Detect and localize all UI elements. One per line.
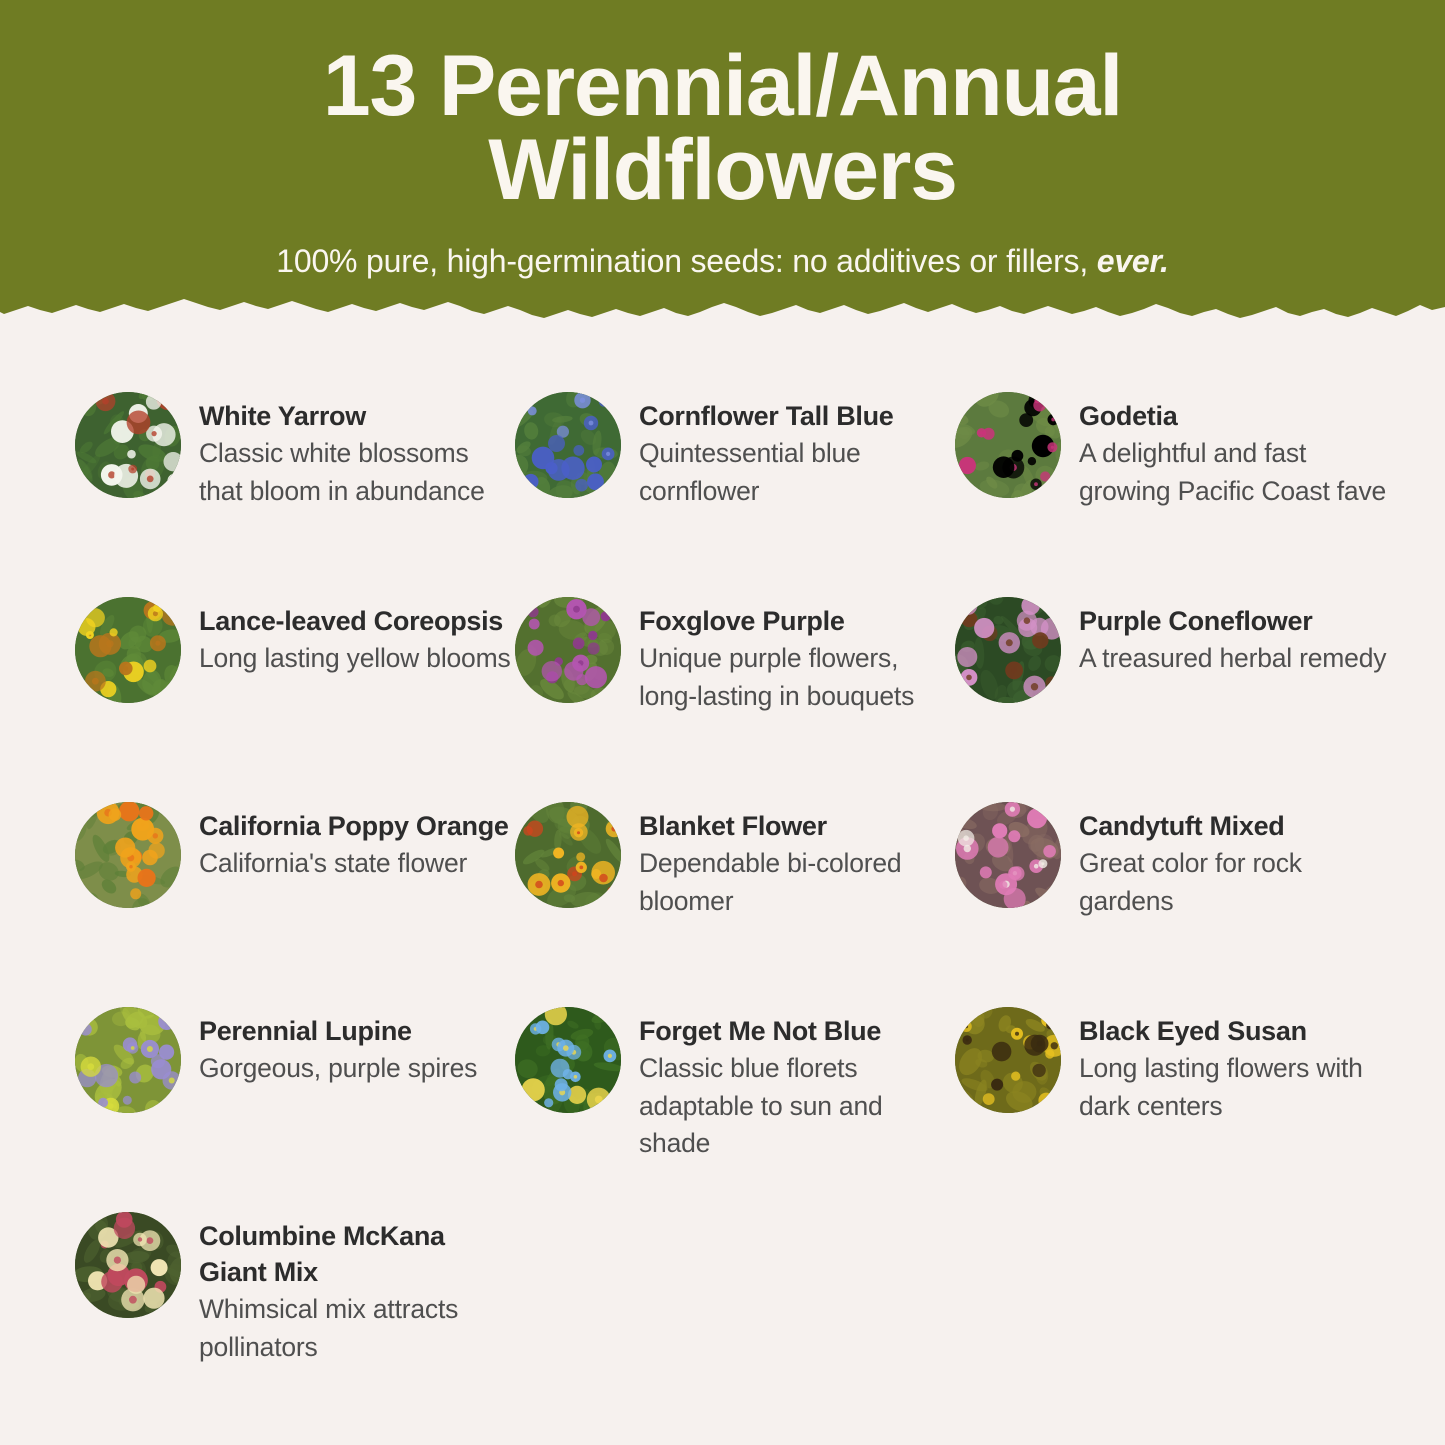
page-subtitle: 100% pure, high-germination seeds: no ad… [0, 243, 1445, 280]
flower-name: Foxglove Purple [639, 603, 955, 639]
candytuft-mixed-photo [955, 802, 1061, 908]
flower-text-block: White YarrowClassic white blossoms that … [199, 382, 515, 510]
lance-leaved-coreopsis-photo [75, 597, 181, 703]
flower-list-item: Candytuft MixedGreat color for rock gard… [955, 792, 1395, 997]
perennial-lupine-photo [75, 1007, 181, 1113]
flower-list-item: California Poppy OrangeCalifornia's stat… [75, 792, 515, 997]
flower-name: Blanket Flower [639, 808, 955, 844]
flower-text-block: Cornflower Tall BlueQuintessential blue … [639, 382, 955, 510]
blanket-flower-photo [515, 802, 621, 908]
flower-description: Whimsical mix attracts pollinators [199, 1291, 515, 1366]
flower-name: Lance-leaved Coreopsis [199, 603, 511, 639]
flower-list-item: White YarrowClassic white blossoms that … [75, 382, 515, 587]
flower-text-block: Purple ConeflowerA treasured herbal reme… [1079, 587, 1386, 678]
cornflower-tall-blue-photo [515, 392, 621, 498]
purple-coneflower-photo [955, 597, 1061, 703]
flower-list-item: Black Eyed SusanLong lasting flowers wit… [955, 997, 1395, 1202]
flower-text-block: Blanket FlowerDependable bi-colored bloo… [639, 792, 955, 920]
subtitle-main-text: 100% pure, high-germination seeds: no ad… [276, 243, 1096, 279]
flower-description: Unique purple flowers, long-lasting in b… [639, 640, 955, 715]
flower-list-item: GodetiaA delightful and fast growing Pac… [955, 382, 1395, 587]
flower-description: Long lasting flowers with dark centers [1079, 1050, 1395, 1125]
flower-name: White Yarrow [199, 398, 515, 434]
flower-text-block: Lance-leaved CoreopsisLong lasting yello… [199, 587, 511, 678]
flower-list-item: Purple ConeflowerA treasured herbal reme… [955, 587, 1395, 792]
subtitle-emphasis-text: ever. [1097, 243, 1169, 279]
california-poppy-orange-photo [75, 802, 181, 908]
flower-list-item: Forget Me Not BlueClassic blue florets a… [515, 997, 955, 1202]
flower-description: Classic white blossoms that bloom in abu… [199, 435, 515, 510]
flower-description: Classic blue florets adaptable to sun an… [639, 1050, 955, 1163]
white-yarrow-photo [75, 392, 181, 498]
flower-description: Dependable bi-colored bloomer [639, 845, 955, 920]
page-title: 13 Perennial/Annual Wildflowers [0, 44, 1445, 213]
flower-text-block: California Poppy OrangeCalifornia's stat… [199, 792, 509, 883]
header-banner: 13 Perennial/Annual Wildflowers 100% pur… [0, 0, 1445, 330]
flower-name: Perennial Lupine [199, 1013, 477, 1049]
flower-name: Black Eyed Susan [1079, 1013, 1395, 1049]
flower-text-block: Candytuft MixedGreat color for rock gard… [1079, 792, 1395, 920]
flower-description: A treasured herbal remedy [1079, 640, 1386, 678]
flower-description: Quintessential blue cornflower [639, 435, 955, 510]
flower-description: Long lasting yellow blooms [199, 640, 511, 678]
flower-name: Cornflower Tall Blue [639, 398, 955, 434]
flower-text-block: Columbine McKana Giant MixWhimsical mix … [199, 1202, 515, 1367]
foxglove-purple-photo [515, 597, 621, 703]
flower-text-block: Foxglove PurpleUnique purple flowers, lo… [639, 587, 955, 715]
flower-list-grid: White YarrowClassic white blossoms that … [0, 382, 1445, 1407]
flower-text-block: Forget Me Not BlueClassic blue florets a… [639, 997, 955, 1163]
godetia-photo [955, 392, 1061, 498]
flower-text-block: Perennial LupineGorgeous, purple spires [199, 997, 477, 1088]
flower-name: Purple Coneflower [1079, 603, 1386, 639]
flower-name: Columbine McKana Giant Mix [199, 1218, 515, 1290]
forget-me-not-blue-photo [515, 1007, 621, 1113]
flower-description: Gorgeous, purple spires [199, 1050, 477, 1088]
flower-list-item: Columbine McKana Giant MixWhimsical mix … [75, 1202, 515, 1407]
flower-list-item: Foxglove PurpleUnique purple flowers, lo… [515, 587, 955, 792]
flower-description: California's state flower [199, 845, 509, 883]
black-eyed-susan-photo [955, 1007, 1061, 1113]
flower-description: Great color for rock gardens [1079, 845, 1395, 920]
flower-list-item: Perennial LupineGorgeous, purple spires [75, 997, 515, 1202]
infographic-page: 13 Perennial/Annual Wildflowers 100% pur… [0, 0, 1445, 1445]
flower-list-item: Cornflower Tall BlueQuintessential blue … [515, 382, 955, 587]
flower-list-item: Lance-leaved CoreopsisLong lasting yello… [75, 587, 515, 792]
flower-name: Godetia [1079, 398, 1395, 434]
flower-name: Forget Me Not Blue [639, 1013, 955, 1049]
columbine-mckana-giant-mix-photo [75, 1212, 181, 1318]
flower-text-block: Black Eyed SusanLong lasting flowers wit… [1079, 997, 1395, 1125]
flower-name: Candytuft Mixed [1079, 808, 1395, 844]
flower-description: A delightful and fast growing Pacific Co… [1079, 435, 1395, 510]
flower-list-item: Blanket FlowerDependable bi-colored bloo… [515, 792, 955, 997]
flower-name: California Poppy Orange [199, 808, 509, 844]
flower-text-block: GodetiaA delightful and fast growing Pac… [1079, 382, 1395, 510]
